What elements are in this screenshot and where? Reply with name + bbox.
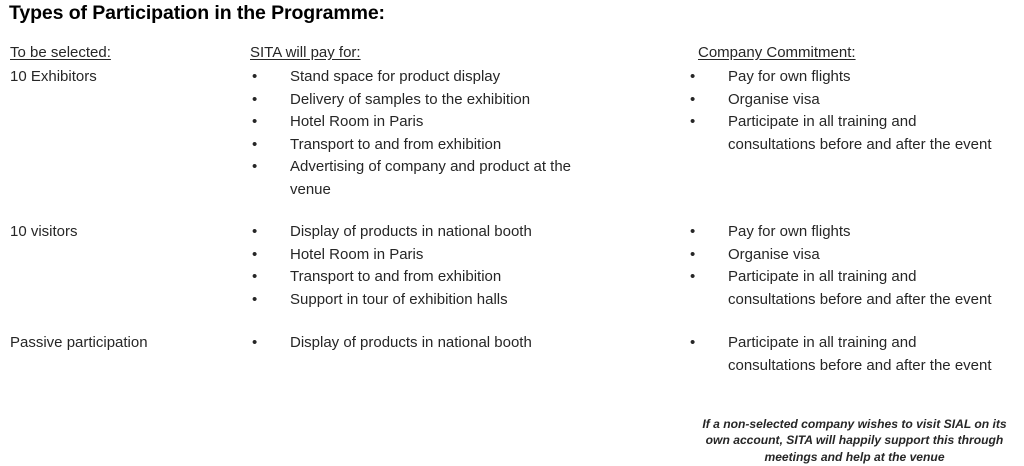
company-commitment-list: • Pay for own flights • Organise visa • … — [688, 221, 998, 311]
list-item-label: Participate in all training and consulta… — [728, 113, 992, 153]
footnote-note: If a non-selected company wishes to visi… — [697, 416, 1012, 465]
list-item: • Pay for own flights — [688, 66, 998, 89]
bullet-icon: • — [252, 156, 266, 179]
bullet-icon: • — [690, 89, 704, 112]
list-item-label: Organise visa — [728, 91, 820, 108]
bullet-icon: • — [252, 89, 266, 112]
list-item-label: Participate in all training and consulta… — [728, 268, 992, 308]
column-heading-to-be-selected: To be selected: — [10, 44, 111, 61]
list-item-label: Transport to and from exhibition — [290, 268, 501, 285]
bullet-icon: • — [252, 244, 266, 267]
list-item: • Support in tour of exhibition halls — [250, 289, 610, 312]
list-item-label: Hotel Room in Paris — [290, 113, 423, 130]
bullet-icon: • — [690, 221, 704, 244]
bullet-icon: • — [252, 289, 266, 312]
list-item: • Display of products in national booth — [250, 332, 610, 355]
slide-canvas: Types of Participation in the Programme:… — [0, 0, 1024, 466]
list-item-label: Participate in all training and consulta… — [728, 334, 992, 374]
list-item-label: Transport to and from exhibition — [290, 136, 501, 153]
list-item: • Participate in all training and consul… — [688, 266, 998, 311]
list-item: • Transport to and from exhibition — [250, 266, 610, 289]
bullet-icon: • — [690, 244, 704, 267]
bullet-icon: • — [252, 111, 266, 134]
list-item-label: Support in tour of exhibition halls — [290, 291, 508, 308]
column-heading-sita-will-pay-for: SITA will pay for: — [250, 44, 361, 61]
list-item: • Organise visa — [688, 89, 998, 112]
list-item: • Participate in all training and consul… — [688, 111, 998, 156]
list-item-label: Stand space for product display — [290, 68, 500, 85]
list-item: • Advertising of company and product at … — [250, 156, 610, 201]
list-item: • Organise visa — [688, 244, 998, 267]
bullet-icon: • — [252, 134, 266, 157]
sita-pays-list: • Display of products in national booth — [250, 332, 610, 355]
company-commitment-list: • Participate in all training and consul… — [688, 332, 998, 377]
list-item: • Display of products in national booth — [250, 221, 610, 244]
list-item: • Participate in all training and consul… — [688, 332, 998, 377]
participation-type-label: Passive participation — [10, 332, 235, 355]
bullet-icon: • — [690, 111, 704, 134]
list-item-label: Delivery of samples to the exhibition — [290, 91, 530, 108]
list-item: • Hotel Room in Paris — [250, 111, 610, 134]
bullet-icon: • — [690, 266, 704, 289]
page-title: Types of Participation in the Programme: — [9, 2, 385, 25]
list-item: • Transport to and from exhibition — [250, 134, 610, 157]
list-item-label: Display of products in national booth — [290, 334, 532, 351]
bullet-icon: • — [252, 221, 266, 244]
list-item-label: Hotel Room in Paris — [290, 246, 423, 263]
sita-pays-list: • Stand space for product display • Deli… — [250, 66, 610, 201]
list-item-label: Display of products in national booth — [290, 223, 532, 240]
list-item-label: Organise visa — [728, 246, 820, 263]
column-heading-company-commitment: Company Commitment: — [698, 44, 856, 61]
list-item: • Hotel Room in Paris — [250, 244, 610, 267]
company-commitment-list: • Pay for own flights • Organise visa • … — [688, 66, 998, 156]
participation-type-label: 10 Exhibitors — [10, 66, 235, 89]
bullet-icon: • — [690, 332, 704, 355]
list-item: • Delivery of samples to the exhibition — [250, 89, 610, 112]
list-item-label: Pay for own flights — [728, 223, 851, 240]
bullet-icon: • — [252, 332, 266, 355]
bullet-icon: • — [252, 266, 266, 289]
bullet-icon: • — [690, 66, 704, 89]
list-item-label: Advertising of company and product at th… — [290, 158, 571, 198]
list-item-label: Pay for own flights — [728, 68, 851, 85]
list-item: • Pay for own flights — [688, 221, 998, 244]
sita-pays-list: • Display of products in national booth … — [250, 221, 610, 311]
bullet-icon: • — [252, 66, 266, 89]
participation-type-label: 10 visitors — [10, 221, 235, 244]
list-item: • Stand space for product display — [250, 66, 610, 89]
